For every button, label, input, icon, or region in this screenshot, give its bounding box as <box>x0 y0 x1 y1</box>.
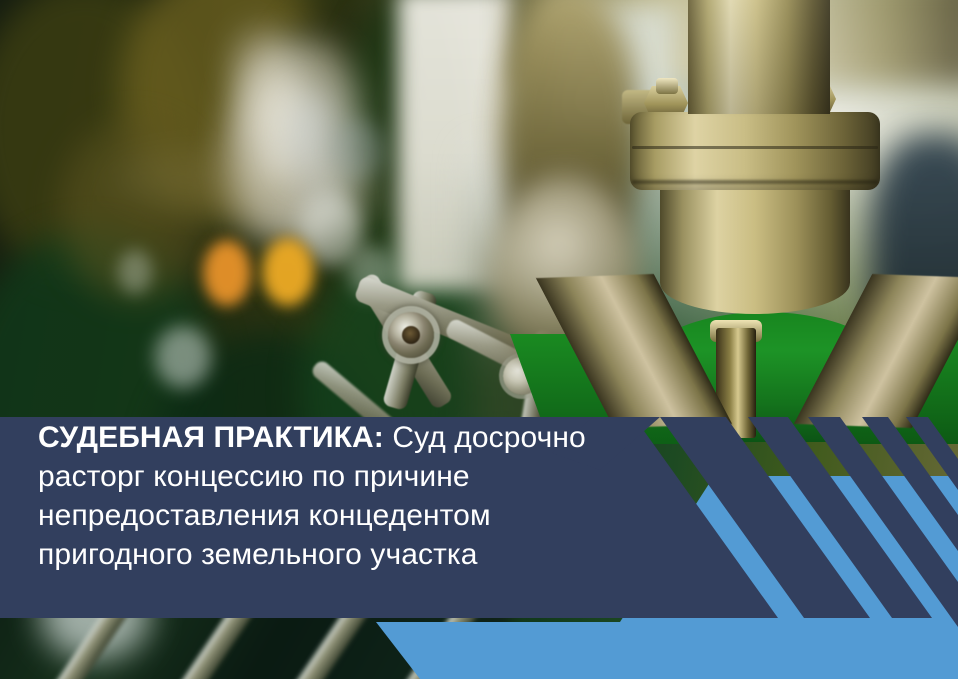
headline: СУДЕБНАЯ ПРАКТИКА: Суд досрочно расторг … <box>38 418 618 574</box>
article-banner: СУДЕБНАЯ ПРАКТИКА: Суд досрочно расторг … <box>0 0 958 679</box>
headline-lead: СУДЕБНАЯ ПРАКТИКА: <box>38 421 384 454</box>
geometric-overlay <box>0 0 958 679</box>
